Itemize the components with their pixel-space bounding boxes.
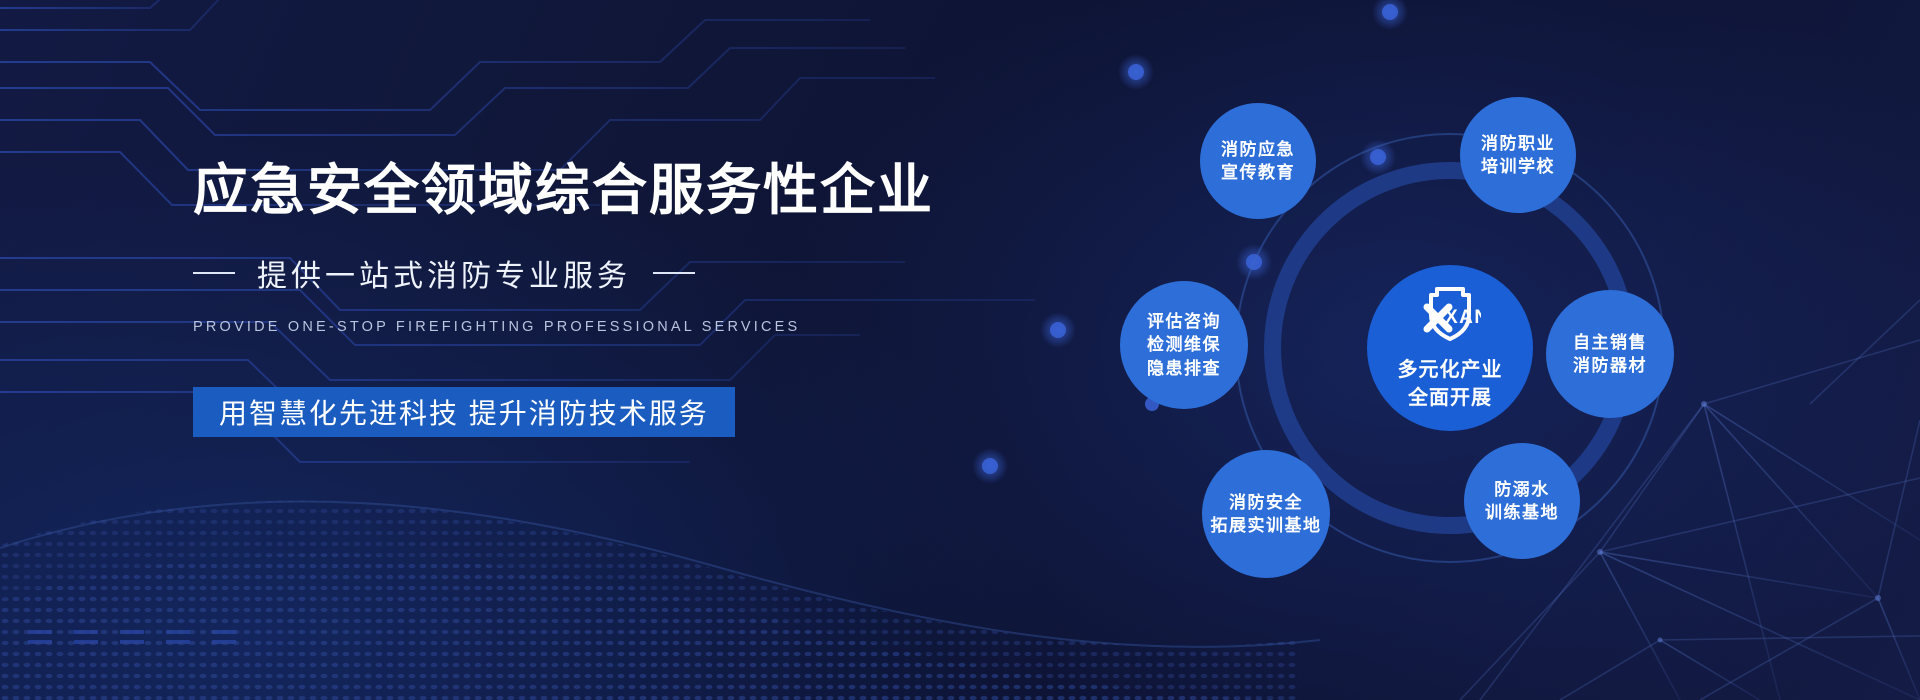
diagram-node-equipment-sales[interactable]: 自主销售 消防器材 — [1546, 290, 1674, 418]
diagram-center-node[interactable]: XAN 多元化产业 全面开展 — [1367, 265, 1533, 431]
node-line-3: 隐患排查 — [1147, 357, 1221, 380]
center-line-2: 全面开展 — [1408, 385, 1492, 413]
node-line-1: 消防职业 — [1481, 132, 1555, 155]
subtitle-cn: 提供一站式消防专业服务 — [257, 251, 631, 295]
node-line-2: 消防器材 — [1573, 354, 1647, 377]
diagram-node-anti-drowning-base[interactable]: 防溺水 训练基地 — [1464, 443, 1580, 559]
node-line-1: 消防应急 — [1221, 138, 1295, 161]
node-line-1: 防溺水 — [1494, 478, 1550, 501]
svg-text:XAN: XAN — [1445, 307, 1481, 328]
hero-copy: 应急安全领域综合服务性企业 提供一站式消防专业服务 PROVIDE ONE-ST… — [193, 160, 1013, 437]
page-title: 应急安全领域综合服务性企业 — [193, 160, 1013, 221]
node-line-2: 培训学校 — [1481, 155, 1555, 178]
diagram-node-fire-emergency-education[interactable]: 消防应急 宣传教育 — [1200, 103, 1316, 219]
node-line-2: 检测维保 — [1147, 333, 1221, 356]
subtitle-row: 提供一站式消防专业服务 — [193, 251, 1013, 295]
cta-banner-button[interactable]: 用智慧化先进科技 提升消防技术服务 — [193, 387, 735, 437]
center-line-1: 多元化产业 — [1398, 357, 1503, 385]
shield-icon: XAN — [1419, 283, 1481, 350]
dash-right-icon — [653, 272, 695, 274]
node-line-1: 自主销售 — [1573, 331, 1647, 354]
hero-banner: 应急安全领域综合服务性企业 提供一站式消防专业服务 PROVIDE ONE-ST… — [0, 0, 1920, 700]
wave-edge-line — [0, 502, 1320, 647]
node-line-2: 拓展实训基地 — [1211, 514, 1322, 537]
node-line-2: 训练基地 — [1485, 501, 1559, 524]
service-wheel-diagram: XAN 多元化产业 全面开展 消防应急 宣传教育 消防职业 培训学校 评估咨询 … — [1130, 75, 1770, 620]
subtitle-en: PROVIDE ONE-STOP FIREFIGHTING PROFESSION… — [193, 319, 1013, 335]
node-line-2: 宣传教育 — [1221, 161, 1295, 184]
diagram-node-fire-vocational-school[interactable]: 消防职业 培训学校 — [1460, 97, 1576, 213]
diagram-node-assessment-consulting[interactable]: 评估咨询 检测维保 隐患排查 — [1120, 281, 1248, 409]
node-line-1: 消防安全 — [1229, 491, 1303, 514]
diagram-node-safety-training-base[interactable]: 消防安全 拓展实训基地 — [1202, 450, 1330, 578]
circuit-pad-group — [28, 630, 236, 644]
node-line-1: 评估咨询 — [1147, 310, 1221, 333]
dash-left-icon — [193, 272, 235, 274]
